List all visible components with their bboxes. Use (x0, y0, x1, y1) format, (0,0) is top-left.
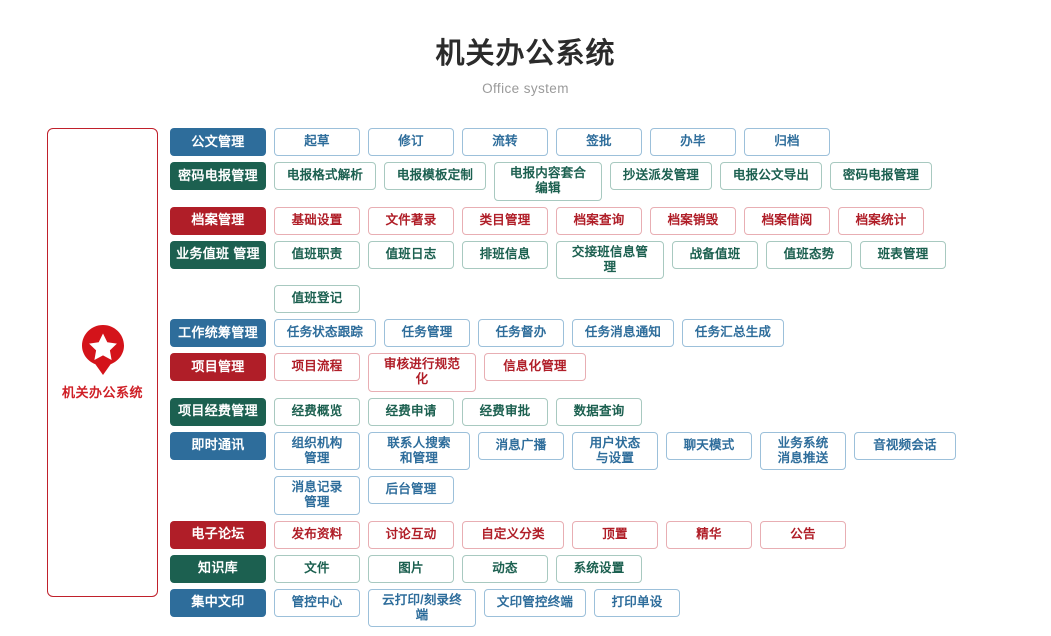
category-button[interactable]: 工作统筹管理 (170, 319, 266, 347)
category-button[interactable]: 公文管理 (170, 128, 266, 156)
module-item-button[interactable]: 后台管理 (368, 476, 454, 504)
brand-label: 机关办公系统 (62, 382, 143, 401)
module-items: 任务状态跟踪任务管理任务督办任务消息通知任务汇总生成 (274, 319, 1051, 347)
module-items-line: 起草修订流转签批办毕归档 (274, 128, 1051, 156)
module-item-button[interactable]: 管控中心 (274, 589, 360, 617)
module-items: 管控中心云打印/刻录终端文印管控终端打印单设 (274, 589, 1051, 628)
module-item-button[interactable]: 数据查询 (556, 398, 642, 426)
category-button[interactable]: 业务值班 管理 (170, 241, 266, 269)
module-item-button[interactable]: 交接班信息管理 (556, 241, 664, 280)
category-button[interactable]: 密码电报管理 (170, 162, 266, 190)
module-row: 工作统筹管理任务状态跟踪任务管理任务督办任务消息通知任务汇总生成 (170, 319, 1051, 347)
module-row: 即时通讯组织机构 管理联系人搜索 和管理消息广播用户状态 与设置聊天模式业务系统… (170, 432, 1051, 515)
module-item-button[interactable]: 档案统计 (838, 207, 924, 235)
module-items-line: 管控中心云打印/刻录终端文印管控终端打印单设 (274, 589, 1051, 628)
module-item-button[interactable]: 组织机构 管理 (274, 432, 360, 471)
module-item-button[interactable]: 消息记录 管理 (274, 476, 360, 515)
module-item-button[interactable]: 文件 (274, 555, 360, 583)
module-items-line: 值班职责值班日志排班信息交接班信息管理战备值班值班态势班表管理 (274, 241, 1051, 280)
module-items-line: 电报格式解析电报模板定制电报内容套合编辑抄送派发管理电报公文导出密码电报管理 (274, 162, 1051, 201)
module-rows: 公文管理起草修订流转签批办毕归档密码电报管理电报格式解析电报模板定制电报内容套合… (170, 128, 1051, 633)
module-item-button[interactable]: 文印管控终端 (484, 589, 586, 617)
module-item-button[interactable]: 值班日志 (368, 241, 454, 269)
module-items: 文件图片动态系统设置 (274, 555, 1051, 583)
module-item-button[interactable]: 办毕 (650, 128, 736, 156)
module-item-button[interactable]: 签批 (556, 128, 642, 156)
module-items-line: 基础设置文件著录类目管理档案查询档案销毁档案借阅档案统计 (274, 207, 1051, 235)
module-item-button[interactable]: 打印单设 (594, 589, 680, 617)
module-items-line: 消息记录 管理后台管理 (274, 476, 1051, 515)
category-button[interactable]: 档案管理 (170, 207, 266, 235)
module-item-button[interactable]: 电报格式解析 (274, 162, 376, 190)
module-items: 项目流程审核进行规范化信息化管理 (274, 353, 1051, 392)
module-item-button[interactable]: 经费申请 (368, 398, 454, 426)
module-items: 电报格式解析电报模板定制电报内容套合编辑抄送派发管理电报公文导出密码电报管理 (274, 162, 1051, 201)
category-button[interactable]: 项目管理 (170, 353, 266, 381)
module-item-button[interactable]: 档案查询 (556, 207, 642, 235)
module-item-button[interactable]: 动态 (462, 555, 548, 583)
module-item-button[interactable]: 精华 (666, 521, 752, 549)
module-item-button[interactable]: 类目管理 (462, 207, 548, 235)
module-item-button[interactable]: 经费审批 (462, 398, 548, 426)
module-row: 业务值班 管理值班职责值班日志排班信息交接班信息管理战备值班值班态势班表管理值班… (170, 241, 1051, 314)
page-title: 机关办公系统 (0, 38, 1051, 71)
module-item-button[interactable]: 战备值班 (672, 241, 758, 269)
module-item-button[interactable]: 自定义分类 (462, 521, 564, 549)
module-item-button[interactable]: 电报模板定制 (384, 162, 486, 190)
module-item-button[interactable]: 音视频会话 (854, 432, 956, 460)
page-subtitle: Office system (0, 81, 1051, 96)
star-pin-icon (80, 324, 126, 376)
module-item-button[interactable]: 消息广播 (478, 432, 564, 460)
module-item-button[interactable]: 值班态势 (766, 241, 852, 269)
module-item-button[interactable]: 修订 (368, 128, 454, 156)
module-item-button[interactable]: 项目流程 (274, 353, 360, 381)
module-item-button[interactable]: 抄送派发管理 (610, 162, 712, 190)
module-item-button[interactable]: 云打印/刻录终端 (368, 589, 476, 628)
module-row: 档案管理基础设置文件著录类目管理档案查询档案销毁档案借阅档案统计 (170, 207, 1051, 235)
module-items-line: 项目流程审核进行规范化信息化管理 (274, 353, 1051, 392)
module-item-button[interactable]: 电报公文导出 (720, 162, 822, 190)
module-item-button[interactable]: 图片 (368, 555, 454, 583)
system-module-board: 机关办公系统 公文管理起草修订流转签批办毕归档密码电报管理电报格式解析电报模板定… (0, 128, 1051, 633)
module-item-button[interactable]: 信息化管理 (484, 353, 586, 381)
module-item-button[interactable]: 顶置 (572, 521, 658, 549)
module-items-line: 任务状态跟踪任务管理任务督办任务消息通知任务汇总生成 (274, 319, 1051, 347)
module-item-button[interactable]: 业务系统 消息推送 (760, 432, 846, 471)
module-row: 知识库文件图片动态系统设置 (170, 555, 1051, 583)
module-item-button[interactable]: 用户状态 与设置 (572, 432, 658, 471)
category-button[interactable]: 即时通讯 (170, 432, 266, 460)
module-item-button[interactable]: 系统设置 (556, 555, 642, 583)
module-row: 公文管理起草修订流转签批办毕归档 (170, 128, 1051, 156)
module-item-button[interactable]: 联系人搜索 和管理 (368, 432, 470, 471)
module-item-button[interactable]: 值班职责 (274, 241, 360, 269)
module-items-line: 文件图片动态系统设置 (274, 555, 1051, 583)
module-items: 组织机构 管理联系人搜索 和管理消息广播用户状态 与设置聊天模式业务系统 消息推… (274, 432, 1051, 515)
module-item-button[interactable]: 任务状态跟踪 (274, 319, 376, 347)
module-item-button[interactable]: 档案销毁 (650, 207, 736, 235)
module-row: 密码电报管理电报格式解析电报模板定制电报内容套合编辑抄送派发管理电报公文导出密码… (170, 162, 1051, 201)
module-items-line: 发布资料讨论互动自定义分类顶置精华公告 (274, 521, 1051, 549)
module-item-button[interactable]: 排班信息 (462, 241, 548, 269)
category-button[interactable]: 电子论坛 (170, 521, 266, 549)
module-item-button[interactable]: 电报内容套合编辑 (494, 162, 602, 201)
module-item-button[interactable]: 任务督办 (478, 319, 564, 347)
module-item-button[interactable]: 值班登记 (274, 285, 360, 313)
module-item-button[interactable]: 公告 (760, 521, 846, 549)
module-item-button[interactable]: 任务消息通知 (572, 319, 674, 347)
module-items: 发布资料讨论互动自定义分类顶置精华公告 (274, 521, 1051, 549)
module-items-line: 值班登记 (274, 285, 1051, 313)
module-item-button[interactable]: 归档 (744, 128, 830, 156)
module-items: 基础设置文件著录类目管理档案查询档案销毁档案借阅档案统计 (274, 207, 1051, 235)
category-button[interactable]: 项目经费管理 (170, 398, 266, 426)
module-items: 值班职责值班日志排班信息交接班信息管理战备值班值班态势班表管理值班登记 (274, 241, 1051, 314)
module-item-button[interactable]: 审核进行规范化 (368, 353, 476, 392)
module-item-button[interactable]: 档案借阅 (744, 207, 830, 235)
module-item-button[interactable]: 起草 (274, 128, 360, 156)
brand-panel: 机关办公系统 (47, 128, 158, 597)
module-item-button[interactable]: 聊天模式 (666, 432, 752, 460)
category-button[interactable]: 知识库 (170, 555, 266, 583)
module-item-button[interactable]: 文件著录 (368, 207, 454, 235)
module-row: 集中文印管控中心云打印/刻录终端文印管控终端打印单设 (170, 589, 1051, 628)
module-item-button[interactable]: 发布资料 (274, 521, 360, 549)
module-row: 项目经费管理经费概览经费申请经费审批数据查询 (170, 398, 1051, 426)
module-item-button[interactable]: 任务管理 (384, 319, 470, 347)
page-header: 机关办公系统 Office system (0, 0, 1051, 96)
module-row: 电子论坛发布资料讨论互动自定义分类顶置精华公告 (170, 521, 1051, 549)
module-item-button[interactable]: 讨论互动 (368, 521, 454, 549)
module-items-line: 经费概览经费申请经费审批数据查询 (274, 398, 1051, 426)
module-item-button[interactable]: 经费概览 (274, 398, 360, 426)
module-item-button[interactable]: 班表管理 (860, 241, 946, 269)
module-item-button[interactable]: 流转 (462, 128, 548, 156)
module-item-button[interactable]: 密码电报管理 (830, 162, 932, 190)
module-items: 起草修订流转签批办毕归档 (274, 128, 1051, 156)
module-items: 经费概览经费申请经费审批数据查询 (274, 398, 1051, 426)
module-item-button[interactable]: 基础设置 (274, 207, 360, 235)
module-item-button[interactable]: 任务汇总生成 (682, 319, 784, 347)
category-button[interactable]: 集中文印 (170, 589, 266, 617)
module-items-line: 组织机构 管理联系人搜索 和管理消息广播用户状态 与设置聊天模式业务系统 消息推… (274, 432, 1051, 471)
module-row: 项目管理项目流程审核进行规范化信息化管理 (170, 353, 1051, 392)
